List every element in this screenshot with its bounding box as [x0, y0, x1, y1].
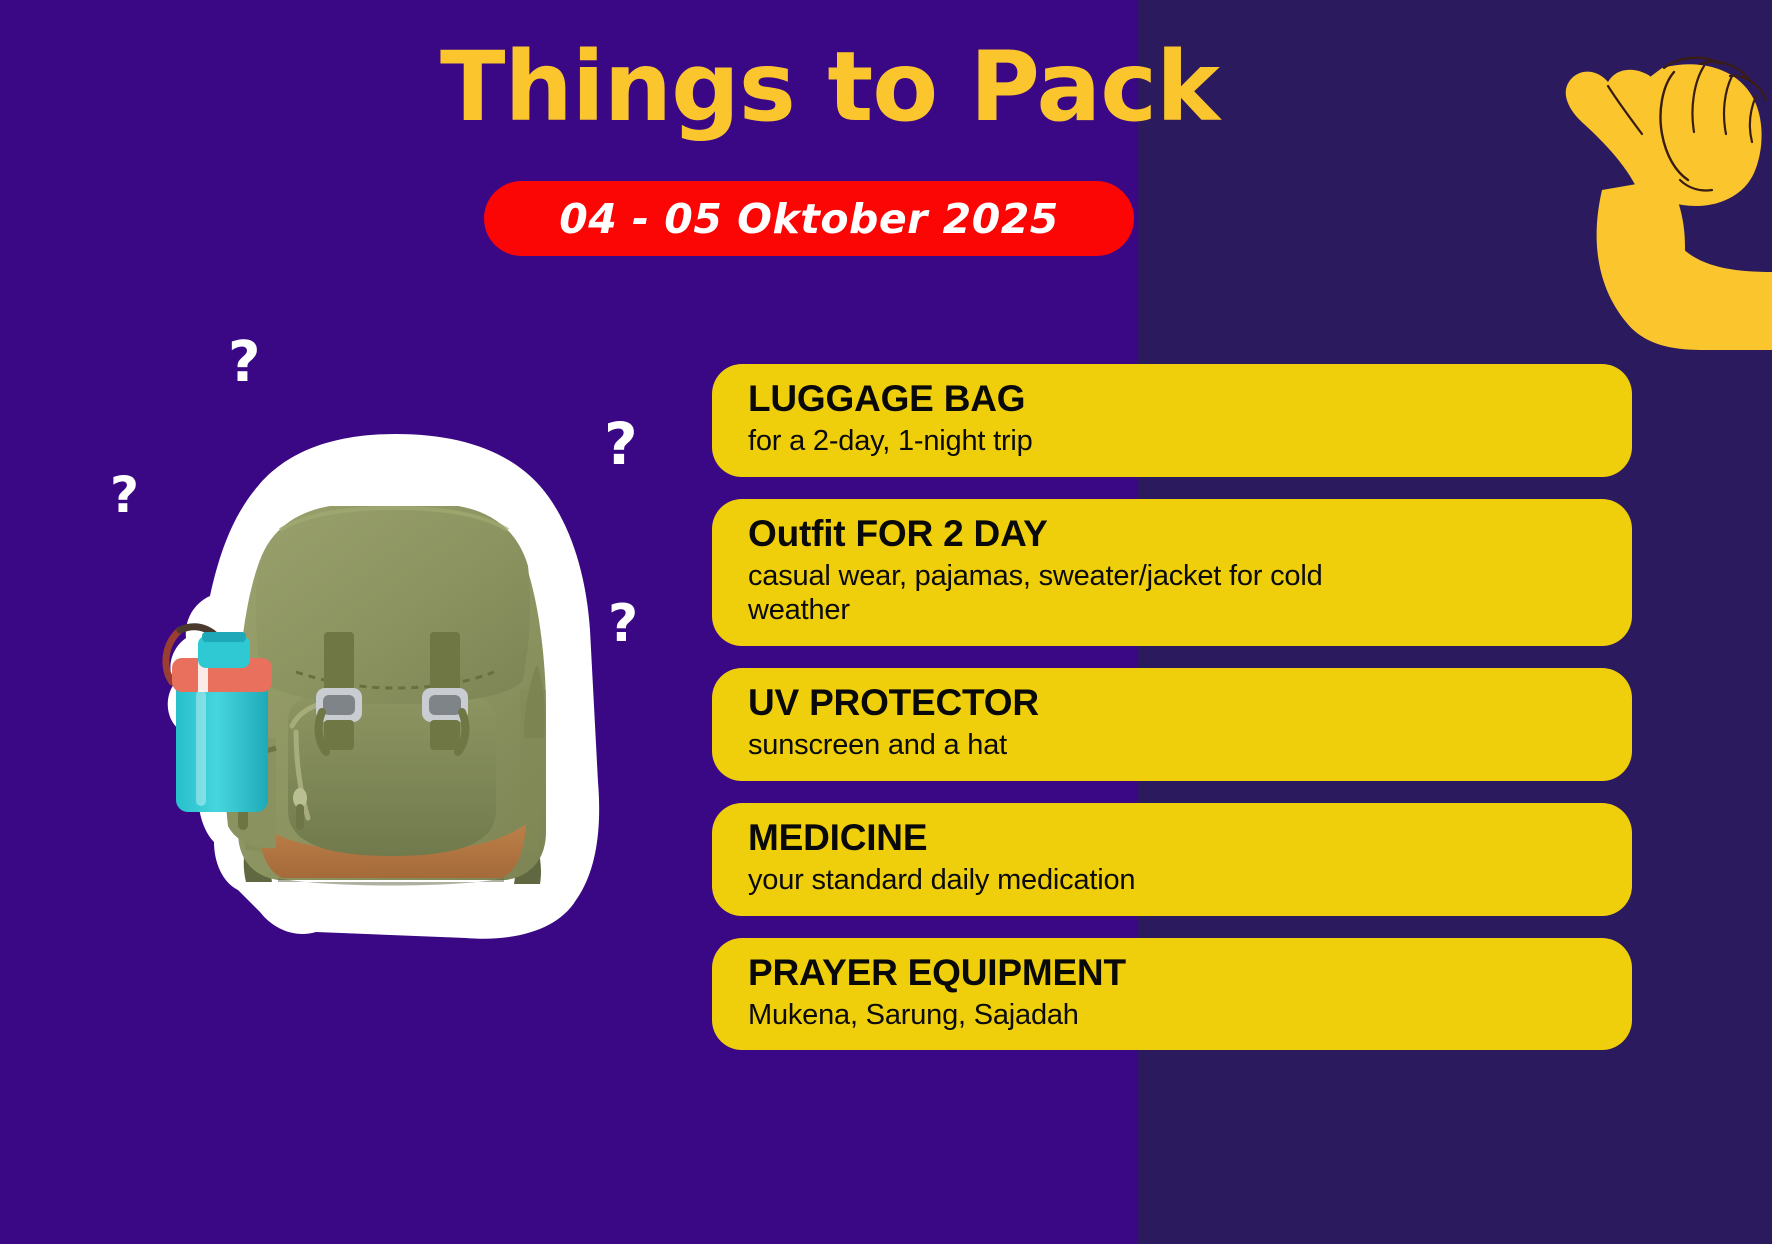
date-badge-label: 04 - 05 Oktober 2025 [559, 195, 1059, 243]
thumbs-up-hand-icon [1412, 20, 1772, 350]
date-badge: 04 - 05 Oktober 2025 [484, 181, 1134, 256]
list-item-subtitle: sunscreen and a hat [748, 728, 1596, 763]
question-mark-icon: ? [604, 415, 638, 473]
list-item-subtitle: your standard daily medication [748, 863, 1596, 898]
list-item[interactable]: Outfit FOR 2 DAY casual wear, pajamas, s… [712, 499, 1632, 647]
backpack-illustration [110, 390, 670, 980]
question-mark-icon: ? [228, 335, 260, 391]
list-item-title: PRAYER EQUIPMENT [748, 952, 1596, 995]
list-item-subtitle: Mukena, Sarung, Sajadah [748, 998, 1596, 1033]
question-mark-icon: ? [608, 598, 638, 650]
page-title: Things to Pack [440, 36, 1180, 140]
list-item-subtitle: for a 2-day, 1-night trip [748, 424, 1596, 459]
list-item[interactable]: PRAYER EQUIPMENT Mukena, Sarung, Sajadah [712, 938, 1632, 1051]
list-item-title: LUGGAGE BAG [748, 378, 1596, 421]
list-item-title: Outfit FOR 2 DAY [748, 513, 1596, 556]
list-item[interactable]: MEDICINE your standard daily medication [712, 803, 1632, 916]
list-item-subtitle: casual wear, pajamas, sweater/jacket for… [748, 559, 1358, 629]
list-item[interactable]: UV PROTECTOR sunscreen and a hat [712, 668, 1632, 781]
question-mark-icon: ? [110, 470, 139, 520]
packing-list: LUGGAGE BAG for a 2-day, 1-night trip Ou… [712, 364, 1632, 1072]
list-item-title: UV PROTECTOR [748, 682, 1596, 725]
list-item[interactable]: LUGGAGE BAG for a 2-day, 1-night trip [712, 364, 1632, 477]
poster-canvas: Things to Pack 04 - 05 Oktober 2025 [0, 0, 1772, 1244]
list-item-title: MEDICINE [748, 817, 1596, 860]
